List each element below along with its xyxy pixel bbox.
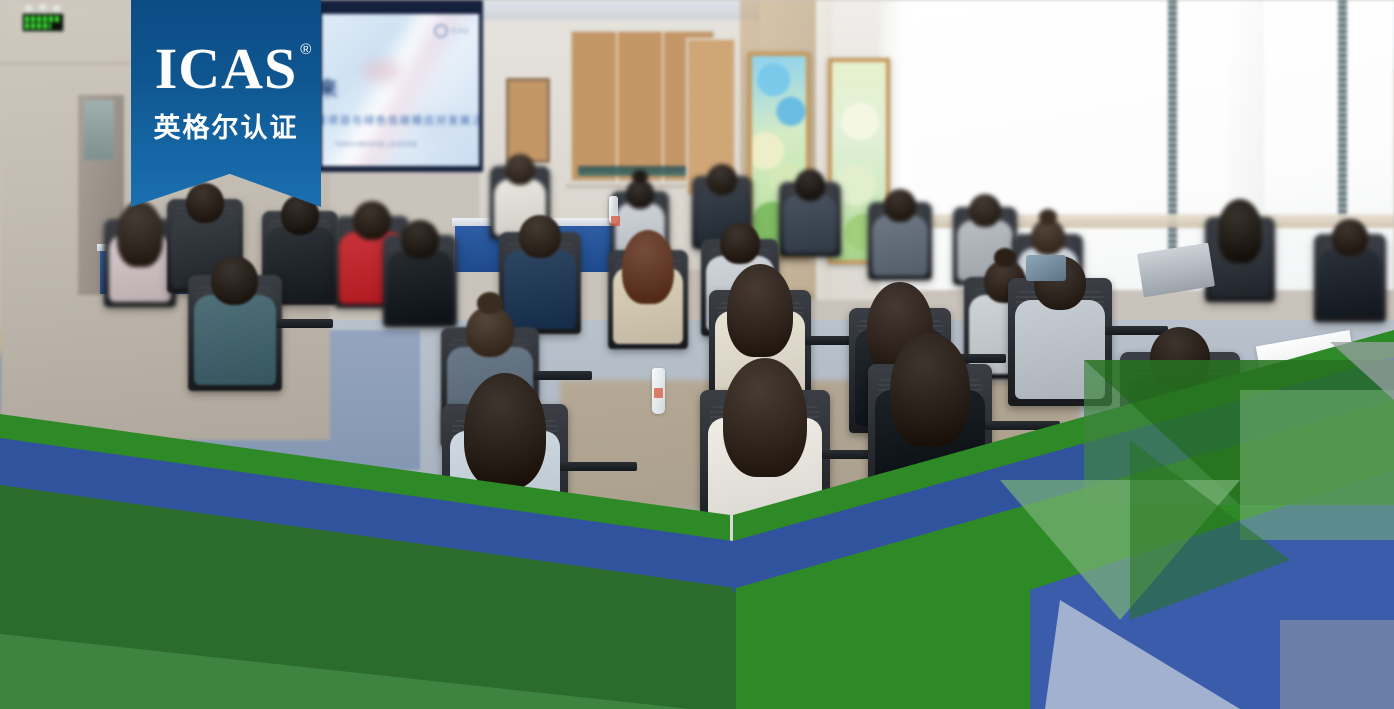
window-mullion — [1168, 0, 1177, 250]
person-head — [211, 256, 258, 305]
person-head — [720, 223, 759, 264]
person-hair-bun — [632, 170, 648, 183]
exit-lamp-icon — [24, 5, 35, 13]
person-torso — [194, 295, 276, 385]
exit-lamp-icon — [52, 5, 63, 13]
water-bottle — [609, 196, 618, 224]
icas-wordmark: ICAS ® — [155, 40, 298, 98]
slide-logo: ICAS — [434, 24, 469, 38]
person-head — [969, 194, 1001, 227]
person-head — [519, 215, 560, 258]
icas-wordmark-text: ICAS — [155, 36, 298, 101]
person-head — [1218, 199, 1263, 262]
door-window — [84, 100, 114, 160]
audience-member — [176, 250, 294, 397]
exit-lamp-icon — [38, 4, 49, 12]
icas-chinese-name: 英格尔认证 — [131, 106, 321, 145]
water-bottle — [652, 368, 665, 414]
person-head — [890, 333, 971, 447]
person-head — [795, 169, 826, 201]
audience-member — [860, 185, 939, 284]
person-head — [186, 183, 224, 223]
person-hair-bun — [477, 292, 504, 314]
person-torso — [783, 194, 837, 253]
audience-member — [683, 355, 846, 559]
tablet-device — [1026, 255, 1066, 281]
person-torso — [872, 215, 927, 276]
audience-member — [1306, 215, 1394, 326]
audience-member — [426, 370, 584, 568]
banner-image: ICAS 来 碳项目与绿色低碳模应对发展之路 气候变化与碳中和专题 上海·投资发… — [0, 0, 1394, 709]
person-head — [401, 220, 438, 259]
registered-trademark-icon: ® — [300, 42, 312, 57]
person-torso — [1015, 300, 1106, 399]
person-head — [727, 264, 793, 357]
person-hair-bun — [1039, 209, 1058, 225]
slide-footnote: 气候变化与碳中和专题 上海·投资发展 — [334, 142, 417, 150]
wall-seam — [0, 62, 132, 65]
exit-sign — [22, 13, 64, 32]
screen-bokeh — [363, 60, 401, 82]
slide-logo-text: ICAS — [451, 28, 469, 35]
person-head — [626, 179, 655, 209]
audience-member — [598, 228, 699, 354]
person-head — [723, 358, 807, 478]
window-mullion — [1338, 0, 1347, 250]
person-head — [622, 230, 674, 304]
person-head — [464, 373, 546, 489]
projector-screen: ICAS 来 碳项目与绿色低碳模应对发展之路 气候变化与碳中和专题 上海·投资发… — [322, 14, 479, 166]
slide-logo-ring-icon — [434, 24, 448, 38]
person-head — [884, 189, 916, 222]
person-head — [707, 164, 737, 195]
person-torso — [1319, 249, 1381, 317]
slide-subheading: 碳项目与绿色低碳模应对发展之路 — [322, 112, 479, 127]
person-head — [1150, 327, 1210, 389]
person-head — [505, 154, 535, 185]
slide-heading: 来 — [322, 74, 339, 101]
person-head — [1332, 219, 1368, 256]
